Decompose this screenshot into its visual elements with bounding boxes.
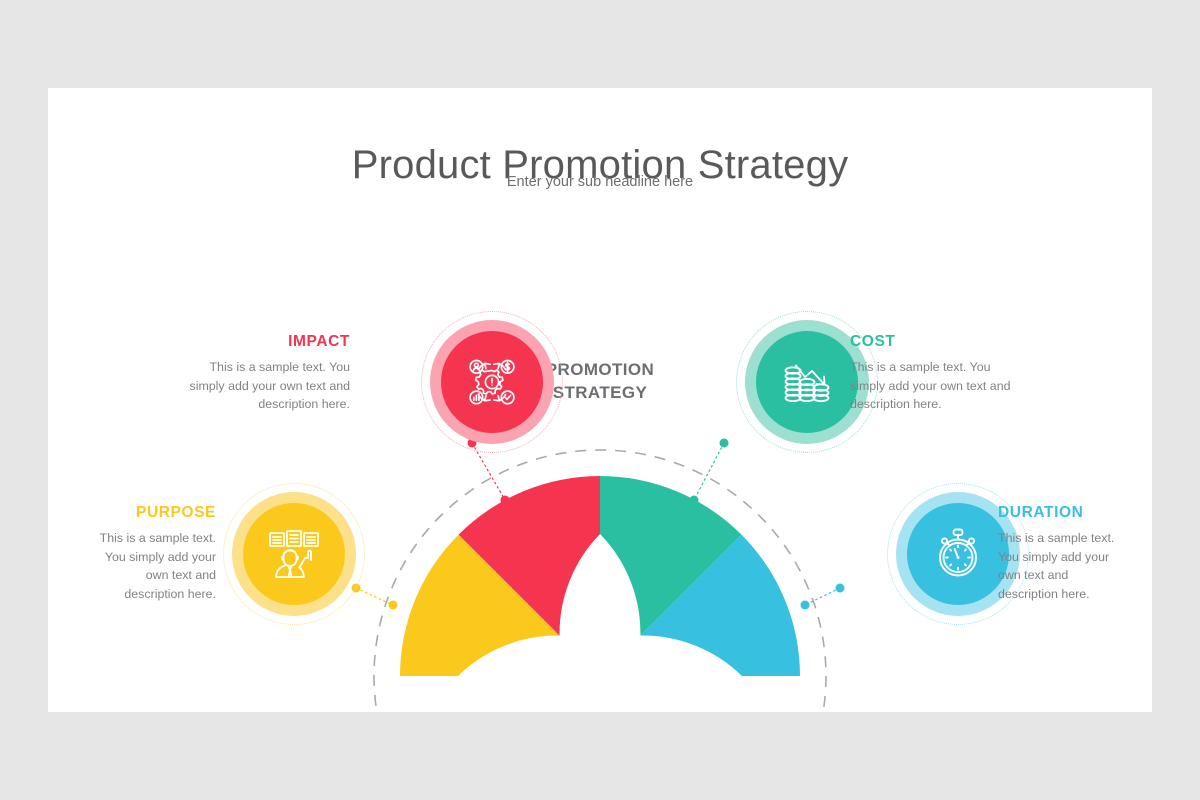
text-block-duration: DURATION This is a sample text. You simp… xyxy=(998,504,1128,603)
slide-canvas: Product Promotion Strategy Enter your su… xyxy=(48,88,1152,712)
page-subtitle: Enter your sub headline here xyxy=(48,174,1152,190)
cost-icon-circle[interactable] xyxy=(756,331,858,433)
node-purpose[interactable] xyxy=(223,483,365,625)
impact-description: This is a sample text. You simply add yo… xyxy=(182,358,350,414)
text-block-cost: COST This is a sample text. You simply a… xyxy=(850,333,1028,414)
duration-stopwatch-icon xyxy=(927,523,989,585)
duration-heading: DURATION xyxy=(998,504,1128,522)
text-block-impact: IMPACT This is a sample text. You simply… xyxy=(182,333,350,414)
node-impact[interactable] xyxy=(421,311,563,453)
impact-heading: IMPACT xyxy=(182,333,350,351)
purpose-description: This is a sample text. You simply add yo… xyxy=(88,529,216,603)
promotion-strategy-donut xyxy=(352,428,848,712)
purpose-icon-circle[interactable] xyxy=(243,503,345,605)
cost-heading: COST xyxy=(850,333,1028,351)
cost-coins-down-arrow-icon xyxy=(776,351,838,413)
cost-description: This is a sample text. You simply add yo… xyxy=(850,358,1028,414)
text-block-purpose: PURPOSE This is a sample text. You simpl… xyxy=(88,504,216,603)
duration-description: This is a sample text. You simply add yo… xyxy=(998,529,1128,603)
impact-icon-circle[interactable] xyxy=(441,331,543,433)
purpose-heading: PURPOSE xyxy=(88,504,216,522)
duration-icon-circle[interactable] xyxy=(907,503,1009,605)
impact-gear-cycle-icon xyxy=(460,350,524,414)
purpose-presenter-icon xyxy=(263,523,325,585)
